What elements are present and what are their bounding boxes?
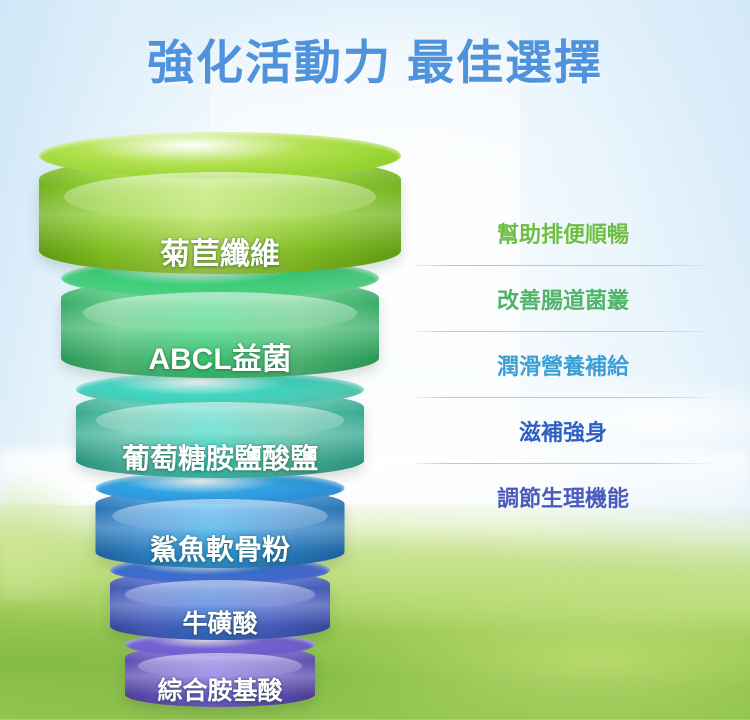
page-title: 強化活動力 最佳選擇 xyxy=(0,24,750,93)
benefit-label: 幫助排便順暢 xyxy=(413,217,713,249)
benefit-row[interactable]: 改善腸道菌叢 xyxy=(413,266,713,332)
cylinder-shape: 菊苣纖維 xyxy=(39,132,401,297)
benefit-row[interactable]: 幫助排便順暢 xyxy=(413,200,713,266)
benefit-row[interactable]: 滋補強身 xyxy=(413,398,713,464)
cylinder-top xyxy=(39,132,401,179)
promo-poster: 強化活動力 最佳選擇 菊苣纖維ABCL益菌葡萄糖胺鹽酸鹽鯊魚軟骨粉牛磺酸綜合胺基… xyxy=(0,0,750,720)
benefit-label: 滋補強身 xyxy=(413,415,713,447)
benefit-row[interactable]: 潤滑營養補給 xyxy=(413,332,713,398)
benefit-list: 幫助排便順暢改善腸道菌叢潤滑營養補給滋補強身調節生理機能 xyxy=(413,200,713,530)
ingredient-funnel: 菊苣纖維ABCL益菌葡萄糖胺鹽酸鹽鯊魚軟骨粉牛磺酸綜合胺基酸 xyxy=(0,132,440,692)
funnel-layer-label: 牛磺酸 xyxy=(110,604,330,640)
funnel-layer[interactable]: 菊苣纖維 xyxy=(39,132,401,297)
funnel-layer-label: ABCL益菌 xyxy=(61,334,379,378)
funnel-layer-label: 鯊魚軟骨粉 xyxy=(96,528,345,568)
funnel-layer-label: 綜合胺基酸 xyxy=(125,671,315,707)
funnel-layer-label: 葡萄糖胺鹽酸鹽 xyxy=(76,437,364,477)
benefit-row[interactable]: 調節生理機能 xyxy=(413,464,713,530)
benefit-label: 改善腸道菌叢 xyxy=(413,283,713,315)
benefit-label: 潤滑營養補給 xyxy=(413,349,713,381)
funnel-layer-label: 菊苣纖維 xyxy=(39,229,401,273)
benefit-label: 調節生理機能 xyxy=(413,481,713,513)
